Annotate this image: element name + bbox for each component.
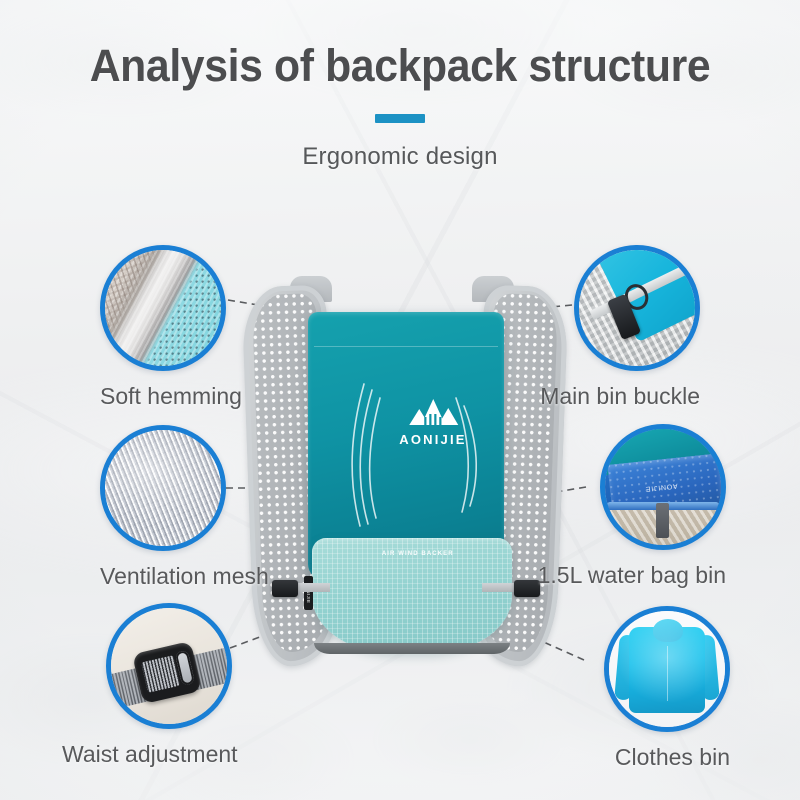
side-buckle-left [272,580,298,597]
slider-buckle [132,641,202,704]
main-bin-buckle-image [579,250,695,366]
fabric-sheen [105,250,221,366]
soft-hemming-image [105,250,221,366]
page-title: Analysis of backpack structure [20,40,780,92]
pocket-bottom-hem [314,643,510,654]
pocket-print-text: AIR WIND BACKER [382,551,454,557]
callout-waist-adjustment: Waist adjustment [106,603,238,768]
jacket-highlight [609,611,725,727]
side-brand-tag: AONIJIE [304,576,313,610]
main-bin-buckle-photo [574,245,700,371]
water-bag-bin-photo: AONIJIE [600,424,726,550]
page-subtitle: Ergonomic design [0,143,800,171]
title-accent-bar [375,114,425,123]
callout-label-waist-adjustment: Waist adjustment [62,741,238,768]
side-webbing-left [296,583,330,592]
front-mesh-pocket: AIR WIND BACKER [312,538,512,654]
callout-clothes-bin: Clothes bin [604,606,730,771]
soft-hemming-photo [100,245,226,371]
backpack-illustration: AONIJIE AIR WIND BACKER AONIJIE [246,276,566,696]
poster-header: Analysis of backpack structure Ergonomic… [0,0,800,171]
callout-soft-hemming: Soft hemming [100,245,242,410]
callout-label-water-bag-bin: 1.5L water bag bin [516,562,726,589]
waist-adjustment-image [111,608,227,724]
callout-label-soft-hemming: Soft hemming [100,383,242,410]
side-webbing-right [482,583,516,592]
clothes-bin-image [609,611,725,727]
ventilation-mesh-image [105,430,221,546]
mesh-highlight [105,430,221,546]
brand-logo: AONIJIE [399,398,466,449]
brand-wordmark: AONIJIE [399,432,466,447]
callout-label-ventilation-mesh: Ventilation mesh [100,563,269,590]
callout-label-main-bin-buckle: Main bin buckle [514,383,700,410]
callout-label-clothes-bin: Clothes bin [592,744,730,771]
callout-ventilation-mesh: Ventilation mesh [100,425,269,590]
callout-main-bin-buckle: Main bin buckle [574,245,700,410]
waist-adjustment-photo [106,603,232,729]
clothes-bin-photo [604,606,730,732]
bladder-brand-print: AONIJIE [638,482,683,494]
ventilation-mesh-photo [100,425,226,551]
callout-water-bag-bin: AONIJIE 1.5L water bag bin [600,424,726,589]
bin-pull-tab [656,503,669,538]
infographic-poster: Analysis of backpack structure Ergonomic… [0,0,800,800]
mountain-icon [407,398,459,428]
water-bag-bin-image: AONIJIE [605,429,721,545]
